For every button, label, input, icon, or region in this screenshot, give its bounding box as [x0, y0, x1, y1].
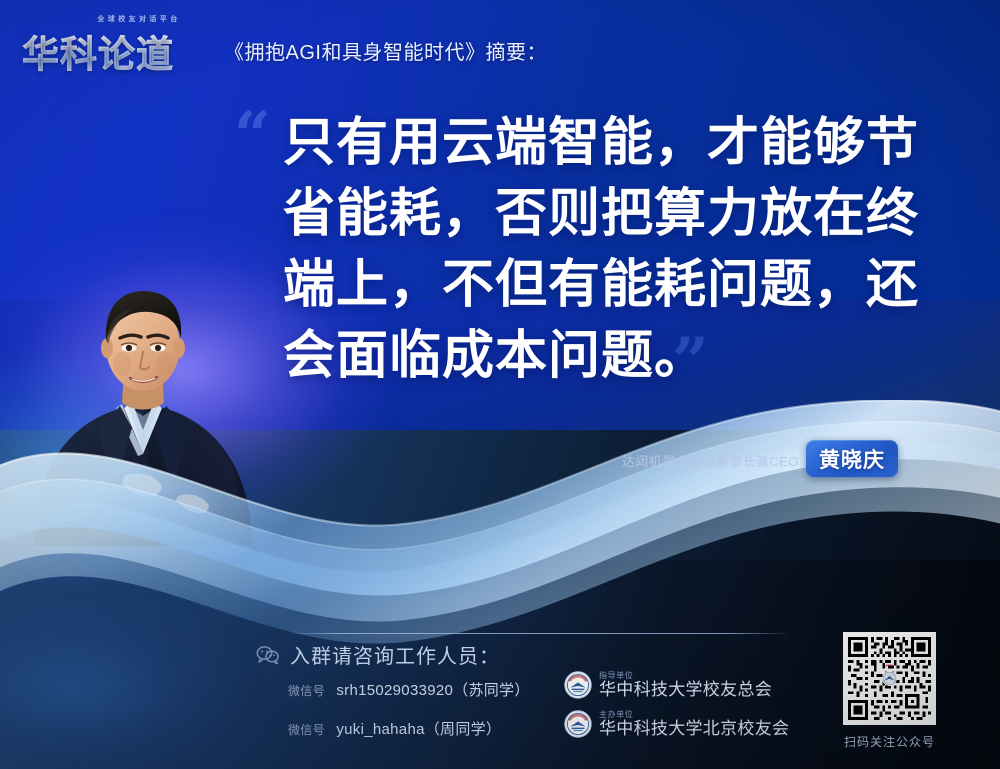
speaker-name-badge: 黄晓庆: [806, 440, 898, 477]
qr-code-icon[interactable]: [843, 632, 936, 725]
session-title: 《拥抱AGI和具身智能时代》摘要：: [224, 36, 547, 65]
contact-value[interactable]: srh15029033920（苏同学）: [336, 682, 529, 699]
organization-kind: 主办单位: [599, 710, 789, 719]
brand-tagline: 全球校友对话平台: [74, 14, 204, 24]
quote-close-mark: ”: [672, 330, 709, 394]
contact-value[interactable]: yuki_hahaha（周同学）: [336, 721, 501, 738]
quote-text: 只有用云端智能，才能够节 省能耗，否则把算力放在终 端上，不但有能耗问题，还 会…: [283, 108, 943, 392]
wechat-icon: [256, 645, 280, 665]
hust-seal-icon: [564, 710, 592, 738]
contact-label: 微信号: [288, 684, 325, 698]
organization-row: 指导单位 华中科技大学校友总会: [564, 671, 772, 699]
contact-row: 微信号 srh15029033920（苏同学）: [288, 679, 530, 700]
quote-line: 端上，不但有能耗问题，还: [283, 250, 943, 321]
brand-logo: 全球校友对话平台 华科论道: [22, 14, 212, 72]
quote-open-mark: “: [234, 104, 271, 168]
organization-kind: 指导单位: [599, 671, 772, 680]
quote-line: 省能耗，否则把算力放在终: [283, 179, 943, 250]
organization-text: 指导单位 华中科技大学校友总会: [599, 671, 772, 699]
footer-title: 入群请咨询工作人员：: [290, 640, 500, 669]
poster-header: 全球校友对话平台 华科论道 《拥抱AGI和具身智能时代》摘要：: [0, 0, 1000, 88]
organization-name: 华中科技大学北京校友会: [599, 720, 789, 738]
speaker-name: 黄晓庆: [819, 444, 885, 474]
contact-label: 微信号: [288, 723, 325, 737]
footer-divider: [286, 633, 791, 634]
speaker-role: 达闼机器人公司董事长兼CEO: [622, 451, 799, 470]
poster-root: 全球校友对话平台 华科论道 《拥抱AGI和具身智能时代》摘要： “ 只有用云端智…: [0, 0, 1000, 769]
qr-caption: 扫码关注公众号: [843, 733, 936, 750]
contact-row: 微信号 yuki_hahaha（周同学）: [288, 718, 501, 739]
organization-row: 主办单位 华中科技大学北京校友会: [564, 710, 789, 738]
quote-line: 只有用云端智能，才能够节: [283, 108, 943, 179]
quote-line: 会面临成本问题。: [283, 321, 943, 392]
brand-name: 华科论道: [22, 24, 212, 78]
organization-text: 主办单位 华中科技大学北京校友会: [599, 710, 789, 738]
hust-seal-icon: [564, 671, 592, 699]
organization-name: 华中科技大学校友总会: [599, 681, 772, 699]
